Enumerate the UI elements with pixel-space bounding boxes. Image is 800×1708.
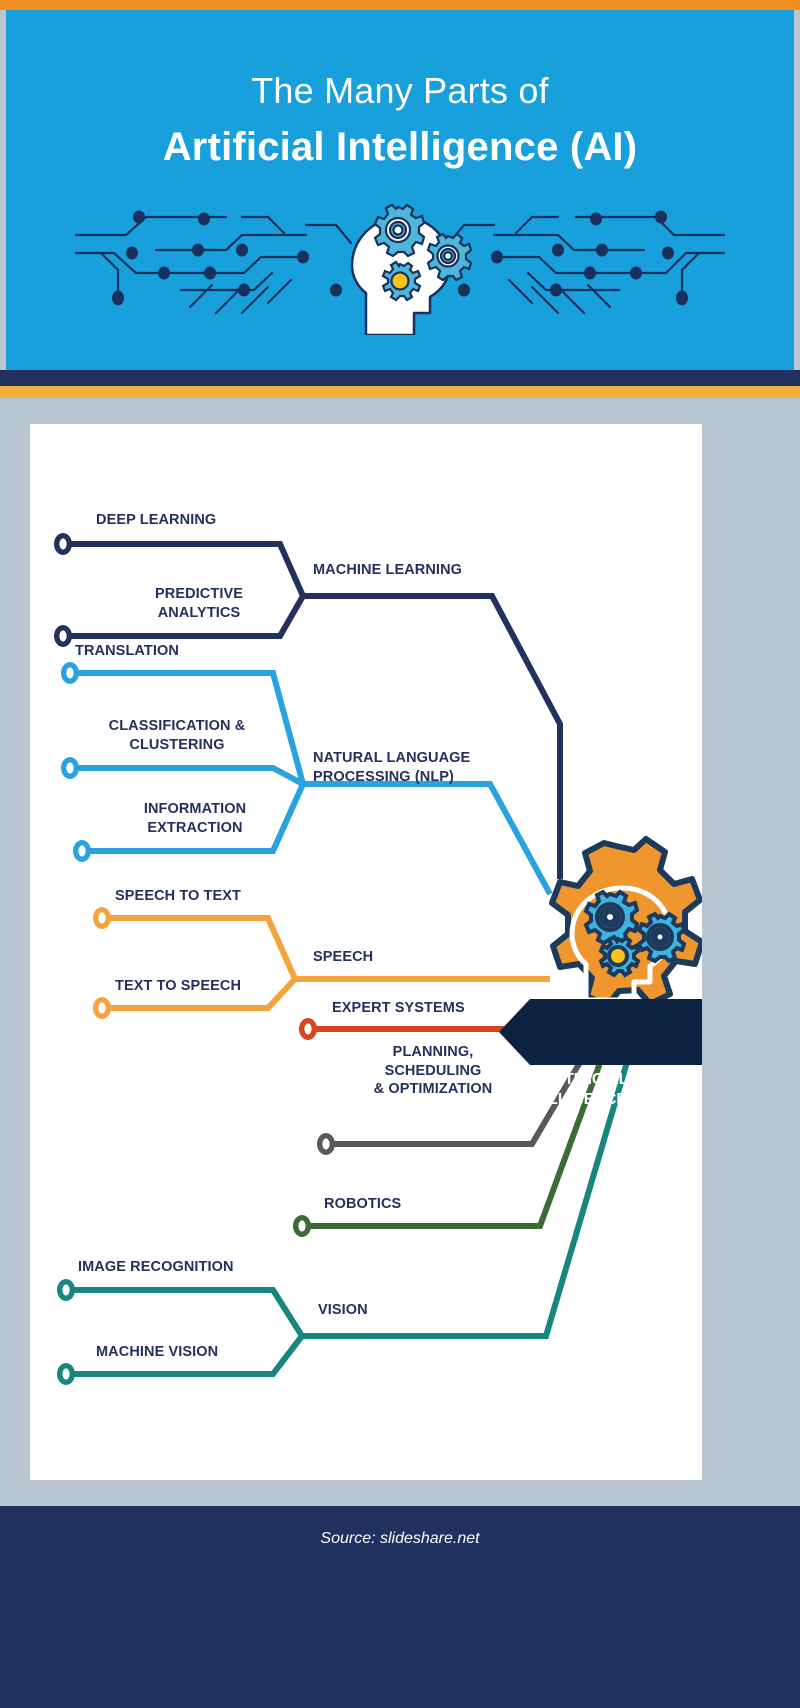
label-planning: PLANNING, SCHEDULING & OPTIMIZATION	[330, 1043, 536, 1099]
gold-divider-bar	[0, 386, 800, 398]
diagram-card: DEEP LEARNING PREDICTIVE ANALYTICS MACHI…	[30, 424, 702, 1480]
label-translation: TRANSLATION	[75, 642, 179, 661]
endpoint-dot-speech-to-text	[93, 907, 111, 929]
endpoint-dot-text-to-speech	[93, 997, 111, 1019]
label-vision: VISION	[318, 1301, 368, 1320]
header-title: Artificial Intelligence (AI)	[6, 125, 794, 170]
footer-bar: Source: slideshare.net	[0, 1506, 800, 1708]
header-banner: The Many Parts of Artificial Intelligenc…	[6, 10, 794, 370]
label-machine-learning: MACHINE LEARNING	[313, 561, 462, 580]
central-ai-gear-icon	[552, 839, 702, 1006]
source-attribution: Source: slideshare.net	[0, 1530, 800, 1548]
ai-head-circuit-icon	[6, 195, 794, 335]
endpoint-dot-expert-systems	[299, 1018, 317, 1040]
navy-divider-bar	[0, 370, 800, 386]
endpoint-dot-translation	[61, 662, 79, 684]
infographic-page: The Many Parts of Artificial Intelligenc…	[0, 0, 800, 1708]
label-text-to-speech: TEXT TO SPEECH	[115, 977, 241, 996]
label-robotics: ROBOTICS	[324, 1195, 401, 1214]
label-deep-learning: DEEP LEARNING	[96, 511, 216, 530]
endpoint-dot-classification-clustering	[61, 757, 79, 779]
label-image-recognition: IMAGE RECOGNITION	[78, 1258, 234, 1277]
label-predictive-analytics: PREDICTIVE ANALYTICS	[96, 585, 302, 622]
label-expert-systems: EXPERT SYSTEMS	[332, 999, 465, 1018]
label-speech-to-text: SPEECH TO TEXT	[115, 887, 241, 906]
label-classification-clustering: CLASSIFICATION & CLUSTERING	[74, 717, 280, 754]
endpoint-dot-predictive-analytics	[54, 625, 72, 647]
endpoint-dot-image-recognition	[57, 1279, 75, 1301]
endpoint-dot-deep-learning	[54, 533, 72, 555]
label-machine-vision: MACHINE VISION	[96, 1343, 218, 1362]
branch-nlp	[70, 673, 550, 894]
endpoint-dot-information-extraction	[73, 840, 91, 862]
header-subtitle: The Many Parts of	[6, 70, 794, 112]
endpoint-dot-planning	[317, 1133, 335, 1155]
top-accent-bar	[0, 0, 800, 10]
label-nlp: NATURAL LANGUAGE PROCESSING (NLP)	[313, 749, 470, 786]
label-information-extraction: INFORMATION EXTRACTION	[92, 800, 298, 837]
endpoint-dot-machine-vision	[57, 1363, 75, 1385]
label-speech: SPEECH	[313, 948, 373, 967]
endpoint-dot-robotics	[293, 1215, 311, 1237]
